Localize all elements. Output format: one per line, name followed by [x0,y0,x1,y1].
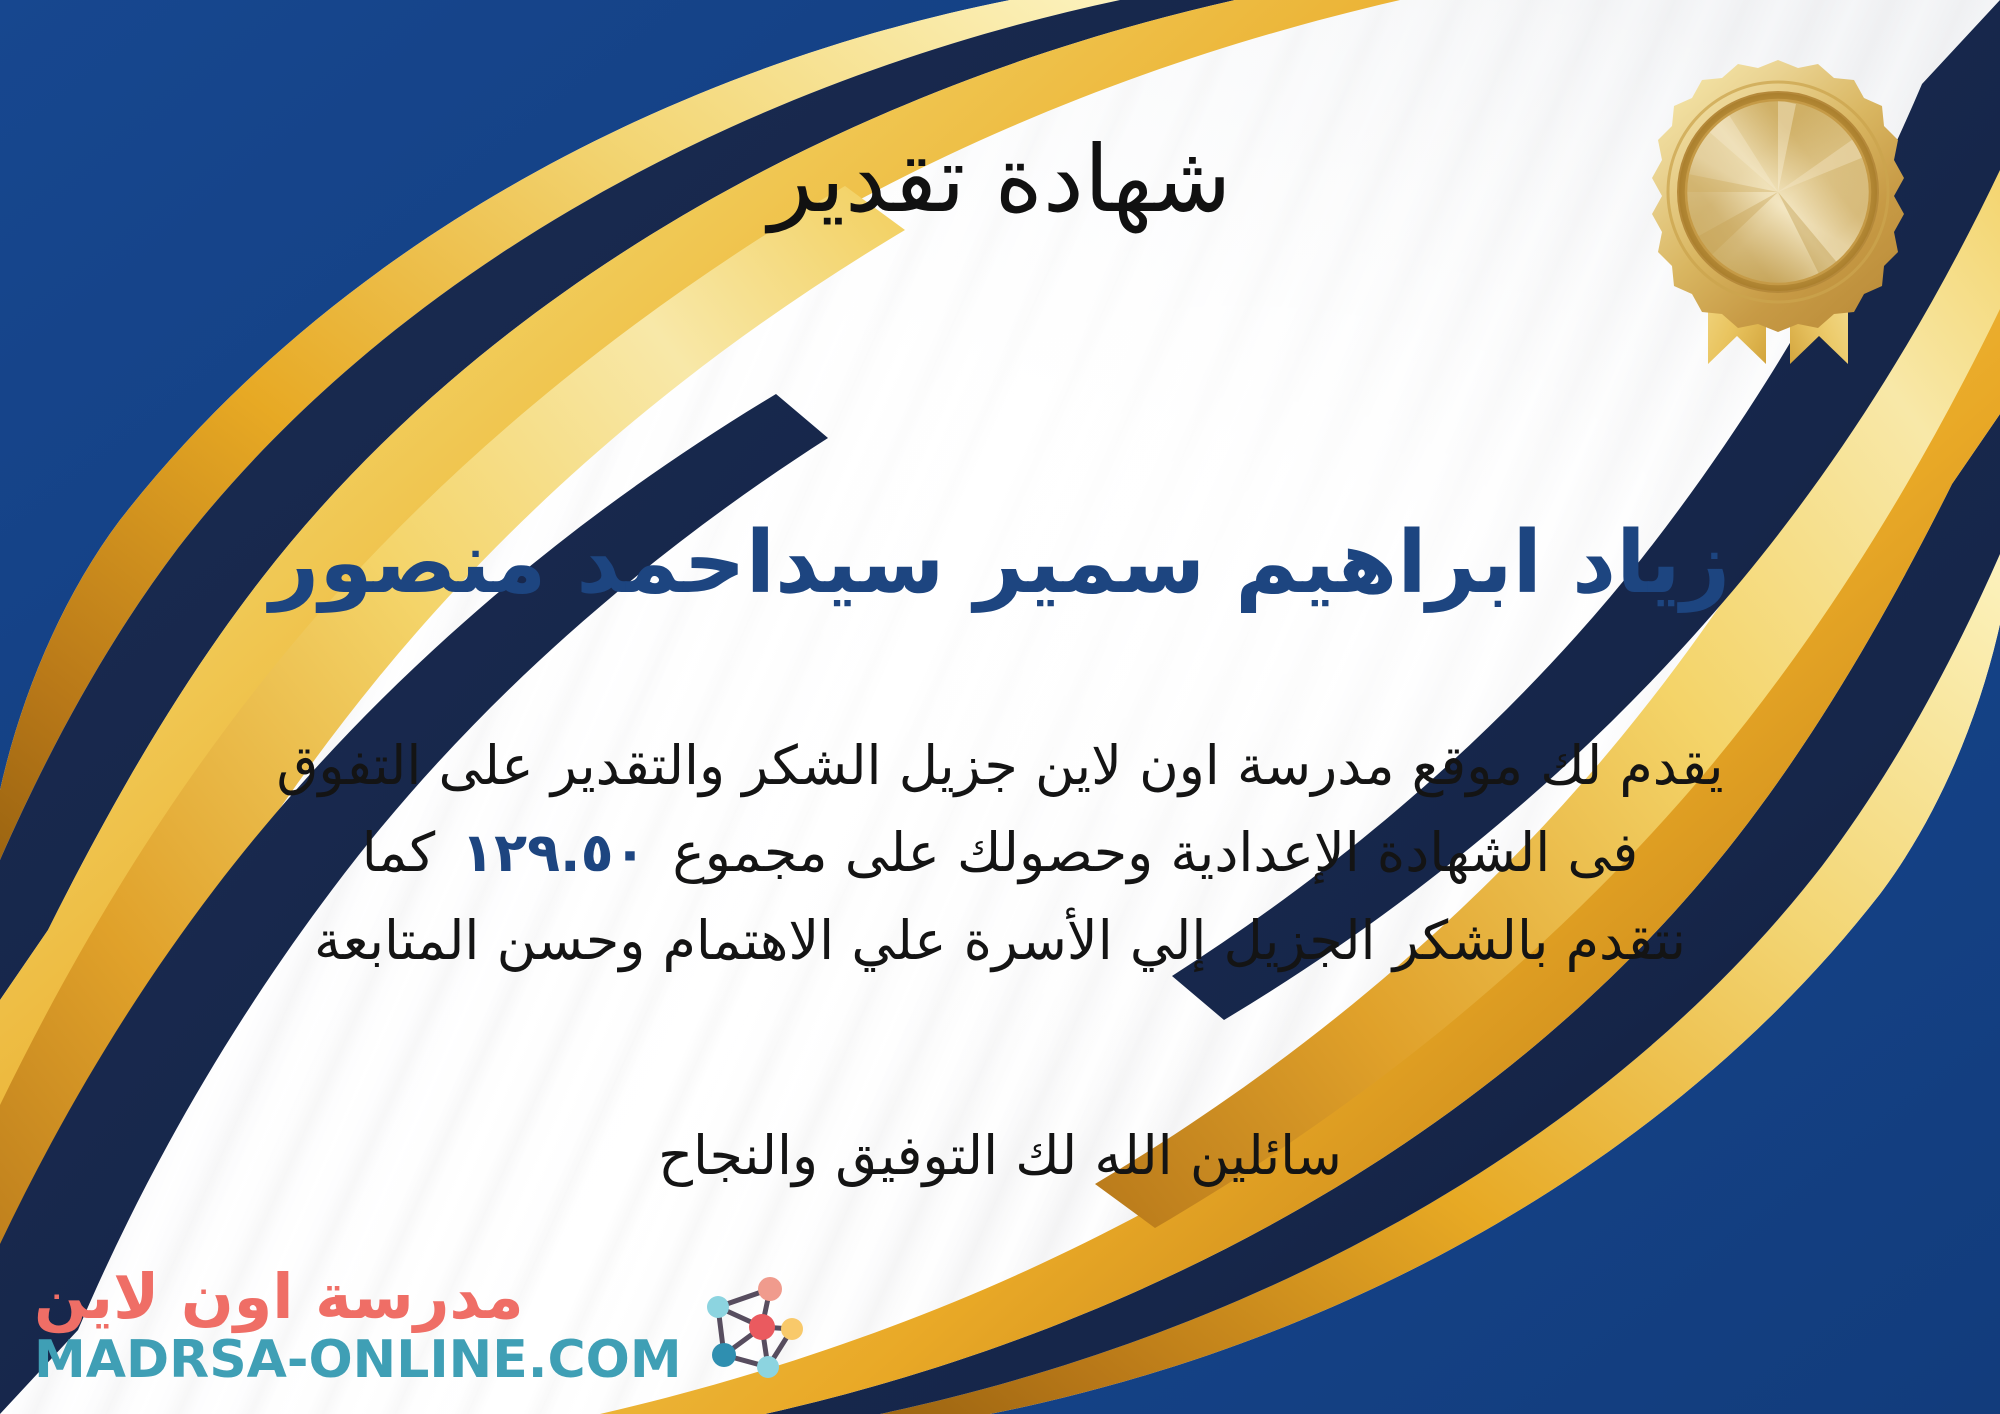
closing-line: سائلين الله لك التوفيق والنجاح [0,1124,2000,1187]
total-score-value: ١٢٩.٥٠ [435,821,672,884]
body-line-2-suffix: كما [362,821,435,884]
student-name: زياد ابراهيم سمير سيداحمد منصور [0,516,2000,611]
certificate-body: يقدم لك موقع مدرسة اون لاين جزيل الشكر و… [60,722,1940,984]
certificate-title: شهادة تقدير [0,132,2000,229]
body-line-2: فى الشهادة الإعدادية وحصولك على مجموع١٢٩… [60,809,1940,896]
body-line-3: نتقدم بالشكر الجزيل إلي الأسرة علي الاهت… [60,897,1940,984]
certificate-canvas: شهادة تقدير زياد ابراهيم سمير سيداحمد من… [0,0,2000,1414]
network-nodes-icon [696,1267,808,1385]
brand-text-group: مدرسة اون لاين MADRSA-ONLINE.COM [34,1266,682,1386]
body-line-1: يقدم لك موقع مدرسة اون لاين جزيل الشكر و… [60,722,1940,809]
brand-name-arabic: مدرسة اون لاين [34,1266,524,1328]
brand-domain: MADRSA-ONLINE.COM [34,1334,682,1386]
brand-logo[interactable]: مدرسة اون لاين MADRSA-ONLINE.COM [34,1266,808,1386]
body-line-2-prefix: فى الشهادة الإعدادية وحصولك على مجموع [672,821,1638,884]
